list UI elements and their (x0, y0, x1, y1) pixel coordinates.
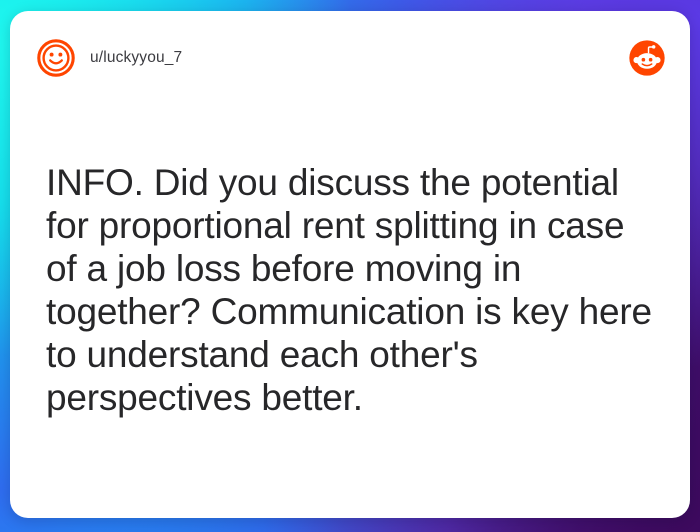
reddit-comment-card: u/luckyyou_7 (10, 11, 690, 518)
reddit-snoo-logo-icon (628, 39, 666, 77)
avatar[interactable] (36, 38, 76, 78)
username-label: u/luckyyou_7 (90, 49, 182, 67)
reddit-logo-button[interactable] (628, 39, 666, 77)
post-body-text: INFO. Did you discuss the potential for … (46, 161, 660, 419)
smiley-face-avatar-icon (36, 38, 76, 78)
screenshot-root: u/luckyyou_7 (0, 0, 700, 532)
card-header: u/luckyyou_7 (10, 11, 690, 105)
